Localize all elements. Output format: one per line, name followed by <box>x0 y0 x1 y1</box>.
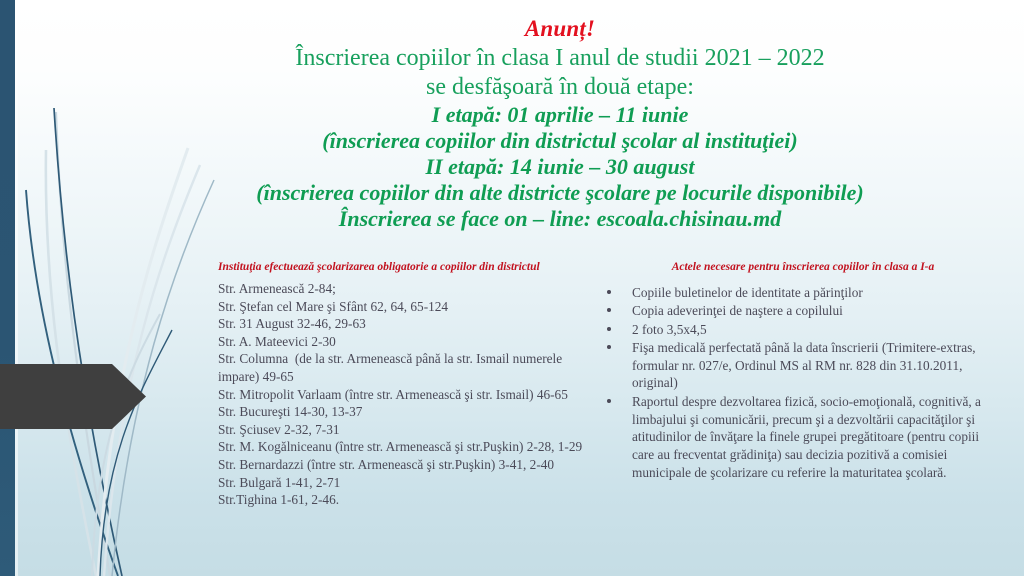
headline-stage-2-note: (înscrierea copiilor din alte districte … <box>180 180 940 206</box>
list-item: Str. Columna (de la str. Armenească până… <box>218 350 603 385</box>
headline-stage-1: I etapă: 01 aprilie – 11 iunie <box>180 102 940 128</box>
headline-stage-1-note: (înscrierea copiilor din districtul şcol… <box>180 128 940 154</box>
left-edge-bar <box>0 0 15 576</box>
required-documents-column: Actele necesare pentru înscrierea copiil… <box>603 259 1003 482</box>
list-item-label: Copia adeverinţei de naştere a copilului <box>632 303 843 318</box>
list-item: Raportul despre dezvoltarea fizică, soci… <box>603 393 1003 482</box>
list-item-label: Fişa medicală perfectată până la data în… <box>632 340 976 391</box>
bullet-icon <box>607 308 611 312</box>
bullet-icon <box>607 399 611 403</box>
list-item: Str. 31 August 32-46, 29-63 <box>218 315 603 333</box>
list-item: Copiile buletinelor de identitate a pări… <box>603 284 1003 302</box>
page-title: Anunț! <box>180 14 940 44</box>
list-item: Str. Bulgară 1-41, 2-71 <box>218 474 603 492</box>
headline-line-1: Înscrierea copiilor în clasa I anul de s… <box>180 44 940 73</box>
bullet-icon <box>607 345 611 349</box>
list-item: Str. Bernardazzi (între str. Armenească … <box>218 456 603 474</box>
bullet-icon <box>607 290 611 294</box>
list-item: Fişa medicală perfectată până la data în… <box>603 339 1003 392</box>
district-addresses-heading: Instituţia efectuează şcolarizarea oblig… <box>218 259 603 275</box>
district-addresses-list: Str. Armenească 2-84; Str. Ştefan cel Ma… <box>218 280 603 509</box>
list-item: Str. Şciusev 2-32, 7-31 <box>218 421 603 439</box>
list-item: Str. A. Mateevici 2-30 <box>218 333 603 351</box>
list-item-label: Raportul despre dezvoltarea fizică, soci… <box>632 394 981 480</box>
list-item-label: Copiile buletinelor de identitate a pări… <box>632 285 863 300</box>
list-item: Copia adeverinţei de naştere a copilului <box>603 302 1003 320</box>
headline-stage-2: II etapă: 14 iunie – 30 august <box>180 154 940 180</box>
list-item: 2 foto 3,5x4,5 <box>603 321 1003 339</box>
required-documents-list: Copiile buletinelor de identitate a pări… <box>603 284 1003 482</box>
list-item: Str. Mitropolit Varlaam (între str. Arme… <box>218 386 603 404</box>
list-item-label: 2 foto 3,5x4,5 <box>632 322 707 337</box>
list-item: Str. Bucureşti 14-30, 13-37 <box>218 403 603 421</box>
left-edge-bar-highlight <box>15 0 18 576</box>
arrow-banner-shape <box>0 364 146 429</box>
list-item: Str. Armenească 2-84; <box>218 280 603 298</box>
headline-online-link: Înscrierea se face on – line: escoala.ch… <box>180 206 940 232</box>
bullet-icon <box>607 327 611 331</box>
headline-block: Anunț! Înscrierea copiilor în clasa I an… <box>180 14 940 232</box>
required-documents-heading: Actele necesare pentru înscrierea copiil… <box>603 259 1003 275</box>
list-item: Str. M. Kogălniceanu (între str. Armenea… <box>218 438 603 456</box>
slide-canvas: Anunț! Înscrierea copiilor în clasa I an… <box>0 0 1024 576</box>
list-item: Str.Tighina 1-61, 2-46. <box>218 491 603 509</box>
list-item: Str. Ştefan cel Mare şi Sfânt 62, 64, 65… <box>218 298 603 316</box>
headline-line-2: se desfăşoară în două etape: <box>180 73 940 102</box>
district-addresses-column: Instituţia efectuează şcolarizarea oblig… <box>218 259 603 509</box>
